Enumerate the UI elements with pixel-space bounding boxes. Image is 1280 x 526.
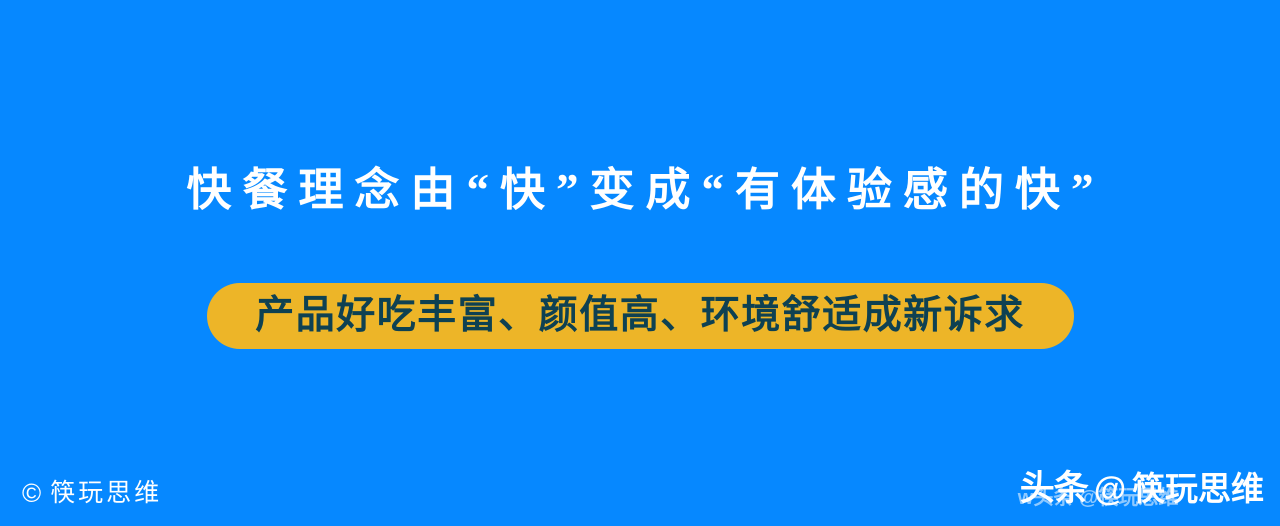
logo-row: 头条 @ 筷玩思维 [1020,469,1264,509]
subtitle-pill-container: 产品好吃丰富、颜值高、环境舒适成新诉求 [0,283,1280,349]
toutiao-logo: w头条 @筷玩思维 头条 @ 筷玩思维 [1020,466,1264,512]
banner: 快餐理念由“快”变成“有体验感的快” 产品好吃丰富、颜值高、环境舒适成新诉求 ©… [0,0,1280,526]
page-title: 快餐理念由“快”变成“有体验感的快” [0,160,1280,220]
copyright-label: 筷玩思维 [50,478,162,508]
copyright-credit: © 筷玩思维 [22,478,162,508]
logo-brand-label: 头条 [1020,469,1088,509]
subtitle-pill: 产品好吃丰富、颜值高、环境舒适成新诉求 [207,283,1074,349]
at-symbol-icon: @ [1092,469,1128,509]
logo-handle-label: 筷玩思维 [1132,469,1264,509]
subtitle-pill-label: 产品好吃丰富、颜值高、环境舒适成新诉求 [255,295,1025,337]
copyright-icon: © [22,478,44,508]
